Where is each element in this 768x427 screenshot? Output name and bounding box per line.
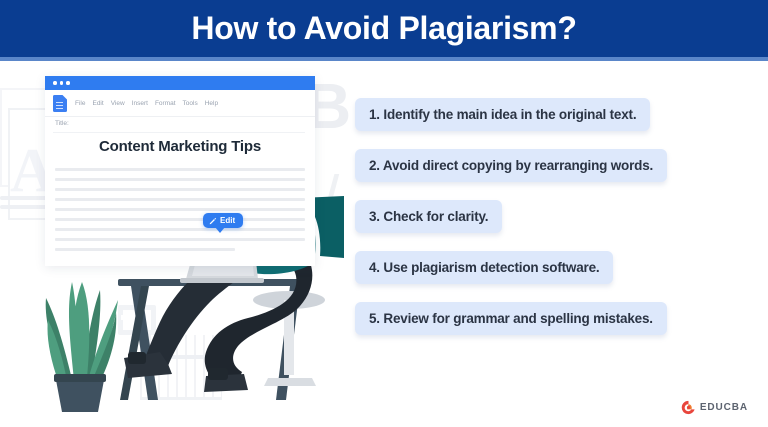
list-item[interactable]: 4. Use plagiarism detection software.	[355, 251, 613, 284]
document-menubar: File Edit View Insert Format Tools Help	[45, 90, 315, 117]
edit-badge-label: Edit	[220, 216, 235, 225]
potted-plant	[46, 282, 118, 412]
title-field-label: Title:	[55, 120, 69, 127]
educba-logo-text: EDUCBA	[700, 402, 748, 413]
document-body-lines	[55, 168, 305, 258]
menu-item-tools[interactable]: Tools	[183, 100, 198, 107]
infographic-root: How to Avoid Plagiarism? A B /	[0, 0, 768, 427]
menu-item-insert[interactable]: Insert	[132, 100, 148, 107]
list-item[interactable]: 1. Identify the main idea in the origina…	[355, 98, 650, 131]
window-dots-icon	[53, 81, 70, 85]
menu-item-view[interactable]: View	[111, 100, 125, 107]
list-item[interactable]: 2. Avoid direct copying by rearranging w…	[355, 149, 667, 182]
menu-item-edit[interactable]: Edit	[92, 100, 103, 107]
title-field-underline	[53, 132, 305, 133]
menu-item-help[interactable]: Help	[205, 100, 218, 107]
menu-item-format[interactable]: Format	[155, 100, 176, 107]
document-titlebar	[45, 76, 315, 90]
pencil-icon	[209, 217, 217, 225]
edit-badge[interactable]: Edit	[203, 213, 243, 228]
list-item[interactable]: 5. Review for grammar and spelling mista…	[355, 302, 667, 335]
document-heading: Content Marketing Tips	[45, 138, 315, 155]
steps-list: 1. Identify the main idea in the origina…	[355, 98, 755, 353]
document-menu-items: File Edit View Insert Format Tools Help	[75, 100, 218, 107]
document-window[interactable]: File Edit View Insert Format Tools Help …	[45, 76, 315, 266]
list-item[interactable]: 3. Check for clarity.	[355, 200, 502, 233]
document-icon	[53, 95, 67, 112]
educba-logo[interactable]: EDUCBA	[681, 400, 748, 415]
menu-item-file[interactable]: File	[75, 100, 85, 107]
educba-logo-icon	[681, 400, 696, 415]
